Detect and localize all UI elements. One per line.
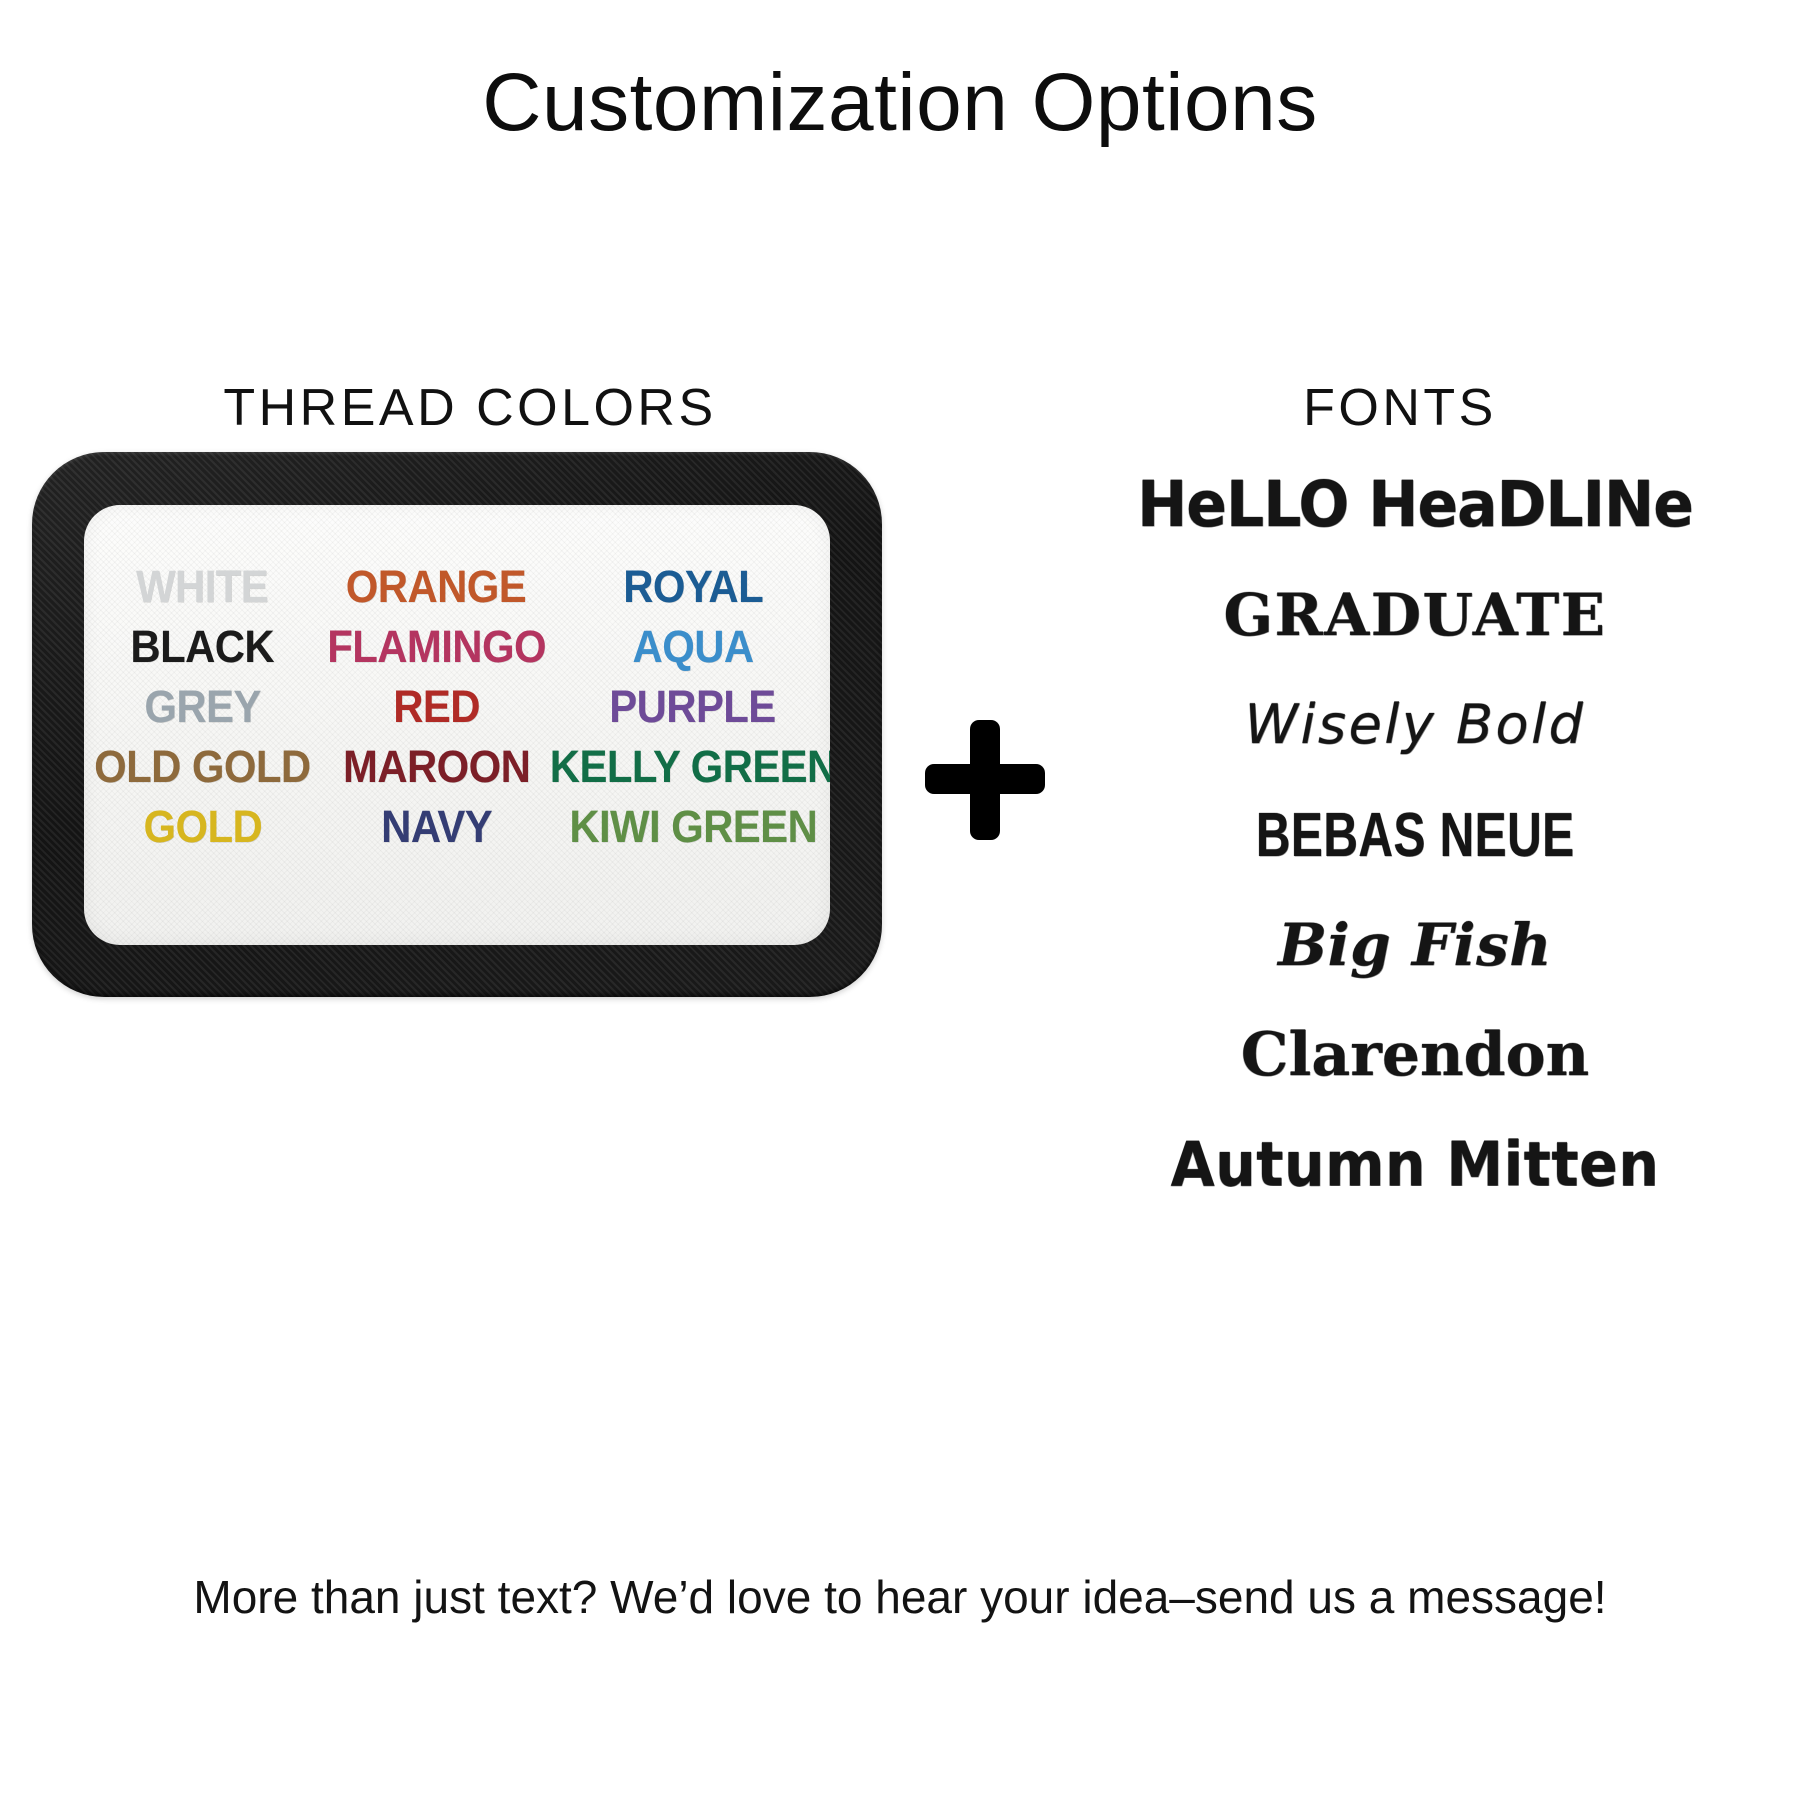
font-sample-big-fish: Big Fish bbox=[1278, 916, 1552, 974]
font-sample-row: HeLLO HeaDLINe bbox=[1050, 450, 1780, 560]
thread-color-old-gold: OLD GOLD bbox=[94, 737, 310, 797]
font-sample-row: Clarendon bbox=[1050, 1000, 1780, 1110]
plus-icon-vertical-bar bbox=[970, 720, 1000, 840]
thread-color-maroon: MAROON bbox=[343, 737, 530, 797]
thread-color-kiwi-green: KIWI GREEN bbox=[569, 797, 817, 857]
font-sample-clarendon: Clarendon bbox=[1241, 1025, 1589, 1085]
thread-color-patch: WHITE BLACK GREY OLD GOLD GOLD ORANGE FL… bbox=[32, 452, 882, 997]
thread-color-purple: PURPLE bbox=[610, 677, 776, 737]
font-sample-row: GRADUATE bbox=[1050, 560, 1780, 670]
thread-color-flamingo: FLAMINGO bbox=[327, 617, 546, 677]
font-sample-row: Big Fish bbox=[1050, 890, 1780, 1000]
thread-color-grey: GREY bbox=[144, 677, 260, 737]
footer-note: More than just text? We’d love to hear y… bbox=[0, 1570, 1800, 1624]
thread-color-gold: GOLD bbox=[143, 797, 262, 857]
thread-color-red: RED bbox=[393, 677, 480, 737]
thread-color-kelly-green: KELLY GREEN bbox=[549, 737, 830, 797]
page-title: Customization Options bbox=[0, 62, 1800, 144]
font-sample-bebas-neue: BEBAS NEUE bbox=[1256, 804, 1575, 866]
thread-colors-heading: THREAD COLORS bbox=[0, 378, 940, 438]
thread-color-royal: ROYAL bbox=[623, 557, 763, 617]
patch-fabric-area: WHITE BLACK GREY OLD GOLD GOLD ORANGE FL… bbox=[84, 505, 830, 945]
plus-icon bbox=[925, 720, 1045, 840]
thread-color-column-1: WHITE BLACK GREY OLD GOLD GOLD bbox=[86, 557, 319, 857]
thread-color-columns: WHITE BLACK GREY OLD GOLD GOLD ORANGE FL… bbox=[84, 557, 830, 857]
font-sample-wisely-bold: Wisely Bold bbox=[1245, 698, 1586, 752]
thread-color-navy: NAVY bbox=[381, 797, 492, 857]
font-sample-row: Wisely Bold bbox=[1050, 670, 1780, 780]
thread-color-white: WHITE bbox=[136, 557, 268, 617]
thread-color-column-2: ORANGE FLAMINGO RED MAROON NAVY bbox=[319, 557, 554, 857]
font-samples-list: HeLLO HeaDLINe GRADUATE Wisely Bold BEBA… bbox=[1050, 450, 1780, 1220]
thread-color-aqua: AQUA bbox=[632, 617, 753, 677]
font-sample-graduate: GRADUATE bbox=[1223, 586, 1606, 644]
font-sample-row: Autumn Mitten bbox=[1050, 1110, 1780, 1220]
thread-color-orange: ORANGE bbox=[346, 557, 526, 617]
font-sample-autumn-mitten: Autumn Mitten bbox=[1171, 1134, 1660, 1196]
fonts-heading: FONTS bbox=[1000, 378, 1800, 438]
thread-color-column-3: ROYAL AQUA PURPLE KELLY GREEN KIWI GREEN bbox=[554, 557, 830, 857]
thread-color-black: BLACK bbox=[131, 617, 275, 677]
font-sample-row: BEBAS NEUE bbox=[1050, 780, 1780, 890]
font-sample-hello-headline: HeLLO HeaDLINe bbox=[1137, 474, 1693, 537]
